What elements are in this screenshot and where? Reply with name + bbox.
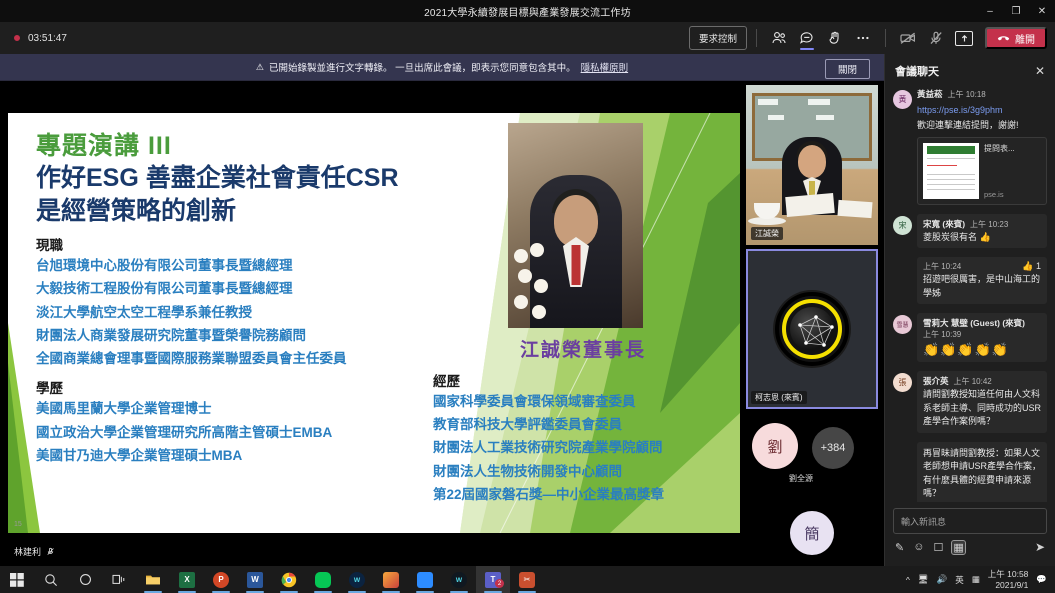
chat-bubble: 👍 1 上午 10:24 招遊吧很厲害，是中山海工的學姊 xyxy=(917,257,1047,304)
chat-author: 黃益菘 xyxy=(917,88,943,100)
chat-timestamp: 上午 10:18 xyxy=(948,89,986,100)
toolbar-actions: 要求控制 xyxy=(689,25,1047,51)
avatar[interactable]: 簡 xyxy=(790,511,834,555)
line-icon[interactable] xyxy=(306,566,340,593)
close-icon[interactable]: ✕ xyxy=(1035,64,1045,78)
chat-message-body: 雪莉大 慧璧 (Guest) (來賓) 上午 10:39 👏👏👏👏👏 xyxy=(917,313,1047,362)
window-title: 2021大學永續發展目標與產業發展交流工作坊 xyxy=(424,4,631,19)
chat-message: 張 張介英 上午 10:42 請問劉教授知道任何由人文科系老師主導、同時成功的U… xyxy=(893,371,1047,433)
slide-page-number: 15 xyxy=(14,521,22,528)
request-control-button[interactable]: 要求控制 xyxy=(689,26,747,50)
chat-timestamp: 上午 10:42 xyxy=(954,376,992,387)
snipping-tool-icon[interactable]: ✂ xyxy=(510,566,544,593)
presentation-slide: 專題演講 III 作好ESG 善盡企業社會責任CSR 是經營策略的創新 現職 台… xyxy=(8,113,740,533)
chat-author: 宋寬 (來賓) xyxy=(923,218,965,230)
webex-icon[interactable]: w xyxy=(340,566,374,593)
list-item: 第22屆國家磐石獎—中小企業最高獎章 xyxy=(433,483,733,506)
link-preview-title: 提問表... xyxy=(984,143,1041,154)
meeting-stage: 專題演講 III 作好ESG 善盡企業社會責任CSR 是經營策略的創新 現職 台… xyxy=(0,81,884,566)
list-item: 台旭環境中心股份有限公司董事長暨總經理 xyxy=(36,254,506,277)
speaker-photo xyxy=(508,123,643,328)
chat-bubble: 宋寬 (來賓) 上午 10:23 菱股炭很有名 👍 xyxy=(917,214,1047,249)
video-tile-guest[interactable]: 柯志恩 (來賓) xyxy=(746,249,878,409)
send-icon[interactable]: ➤ xyxy=(1035,540,1045,554)
avatar-label: 劉全源 xyxy=(746,473,856,484)
list-item: 財團法人生物技術開發中心顧問 xyxy=(433,460,733,483)
avatar[interactable]: 黃 xyxy=(893,90,912,109)
webex-meetings-icon[interactable]: w xyxy=(442,566,476,593)
chat-message-meta: 宋寬 (來賓) 上午 10:23 xyxy=(923,218,1041,230)
chrome-icon[interactable] xyxy=(272,566,306,593)
list-item: 教育部科技大學評鑑委員會委員 xyxy=(433,413,733,436)
ime-label[interactable]: 英 xyxy=(955,574,964,586)
clock[interactable]: 上午 10:58 2021/9/1 xyxy=(988,569,1029,590)
link-preview-meta: 提問表... pse.is xyxy=(984,143,1041,199)
maximize-icon[interactable]: ❐ xyxy=(1003,0,1029,22)
video-rail: 江誠榮 xyxy=(740,81,884,566)
powerpoint-icon[interactable]: P xyxy=(204,566,238,593)
chat-icon[interactable] xyxy=(794,25,820,51)
chat-text: 歡迎連擊連結提問，謝謝! xyxy=(917,119,1047,133)
camera-off-icon[interactable] xyxy=(895,25,921,51)
avatar[interactable]: 宋 xyxy=(893,216,912,235)
chat-title: 會議聊天 xyxy=(895,63,939,79)
emoji-icon[interactable]: ☺ xyxy=(913,541,924,553)
organization-logo-icon xyxy=(775,292,849,366)
chat-message-meta: 黃益菘 上午 10:18 xyxy=(917,88,1047,100)
chat-author: 張介英 xyxy=(923,375,949,387)
chat-message: 再冒昧請問劉教授：如果人文老師想申請USR產學合作案，有什麼具體的經費申請來源嗎… xyxy=(893,442,1047,503)
link-preview-card[interactable]: 提問表... pse.is xyxy=(917,137,1047,205)
sticker-icon[interactable]: ▦ xyxy=(952,541,964,554)
avatar[interactable]: 張 xyxy=(893,373,912,392)
meeting-toolbar: 03:51:47 要求控制 xyxy=(0,22,1055,54)
slide-eyebrow: 專題演講 III xyxy=(36,131,506,162)
search-icon[interactable] xyxy=(34,566,68,593)
mic-off-icon xyxy=(46,547,55,556)
chat-author: 雪莉大 慧璧 (Guest) (來賓) xyxy=(923,317,1041,329)
silhouette-head xyxy=(798,145,826,178)
chat-message: 雪慧 雪莉大 慧璧 (Guest) (來賓) 上午 10:39 👏👏👏👏👏 xyxy=(893,313,1047,362)
close-icon[interactable]: ✕ xyxy=(1029,0,1055,22)
banner-dismiss-button[interactable]: 關閉 xyxy=(825,59,870,79)
warning-icon: ⚠ xyxy=(256,62,264,73)
recording-indicator: 03:51:47 xyxy=(12,33,67,44)
overflow-participants: 劉 +384 劉全源 xyxy=(746,417,878,509)
chat-text: 再冒昧請問劉教授：如果人文老師想申請USR產學合作案，有什麼具體的經費申請來源嗎… xyxy=(923,447,1041,501)
more-options-icon[interactable] xyxy=(850,25,876,51)
file-explorer-icon[interactable] xyxy=(136,566,170,593)
windows-taskbar: X P W w w T 2 ✂ ^ 🖥 🔊 英 ▦ 上午 10:58 202 xyxy=(0,566,1055,593)
chat-message: 黃 黃益菘 上午 10:18 https://pse.is/3g9phm 歡迎連… xyxy=(893,88,1047,205)
task-view-icon[interactable] xyxy=(102,566,136,593)
leave-label: 離開 xyxy=(1015,31,1035,46)
notification-badge: 2 xyxy=(495,579,504,588)
chat-message-list[interactable]: 黃 黃益菘 上午 10:18 https://pse.is/3g9phm 歡迎連… xyxy=(885,88,1055,502)
show-hidden-icons-icon[interactable]: ^ xyxy=(906,575,910,585)
photos-icon[interactable] xyxy=(374,566,408,593)
volume-icon[interactable]: 🔊 xyxy=(937,574,948,585)
teams-icon[interactable]: T 2 xyxy=(476,566,510,593)
paper-prop-2 xyxy=(837,200,872,218)
toolbar-divider xyxy=(756,29,757,47)
video-tile-label: 柯志恩 (來賓) xyxy=(751,391,807,404)
list-item: 大毅技術工程股份有限公司董事長暨總經理 xyxy=(36,277,506,300)
slide-title-line1: 作好ESG 善盡企業社會責任CSR xyxy=(36,162,506,195)
chat-link[interactable]: https://pse.is/3g9phm xyxy=(917,105,1003,115)
leave-meeting-button[interactable]: 離開 xyxy=(985,27,1047,49)
cortana-icon[interactable] xyxy=(68,566,102,593)
paper-prop xyxy=(785,193,835,217)
banner-message: ⚠ 已開始錄製並進行文字轉錄。 一旦出席此會議，即表示您同意包含其中。 隱私權原… xyxy=(256,60,628,74)
experience-heading: 經歷 xyxy=(433,370,733,390)
chat-text: 招遊吧很厲害，是中山海工的學姊 xyxy=(923,273,1041,300)
chat-bubble: 張介英 上午 10:42 請問劉教授知道任何由人文科系老師主導、同時成功的USR… xyxy=(917,371,1047,433)
list-item: 財團法人工業技術研究院產業學院顧問 xyxy=(433,436,733,459)
chat-timestamp: 上午 10:39 xyxy=(923,329,1041,340)
logo-network-graphic xyxy=(790,307,834,351)
avatar[interactable]: 劉 xyxy=(752,423,798,469)
presenter-name: 林建利 xyxy=(14,545,41,558)
current-position-heading: 現職 xyxy=(36,234,506,254)
banner-text: 已開始錄製並進行文字轉錄。 一旦出席此會議，即表示您同意包含其中。 xyxy=(269,60,576,74)
chat-timestamp: 上午 10:23 xyxy=(970,219,1008,230)
minimize-icon[interactable]: – xyxy=(977,0,1003,22)
slide-title-line2: 是經營策略的創新 xyxy=(36,195,506,228)
giphy-icon[interactable]: ☐ xyxy=(933,541,943,554)
slide-right-column: 江誠榮董事長 經歷 國家科學委員會環保領域審查委員 教育部科技大學評鑑委員會委員… xyxy=(433,335,733,506)
zoom-icon[interactable] xyxy=(408,566,442,593)
mic-off-icon[interactable] xyxy=(923,25,949,51)
avatar-placeholder xyxy=(893,444,912,463)
windows-start-icon[interactable] xyxy=(0,566,34,593)
shared-content-area[interactable]: 專題演講 III 作好ESG 善盡企業社會責任CSR 是經營策略的創新 現職 台… xyxy=(0,81,740,566)
action-center-icon[interactable]: 💬 xyxy=(1036,574,1047,585)
chat-bubble: 雪莉大 慧璧 (Guest) (來賓) 上午 10:39 👏👏👏👏👏 xyxy=(917,313,1047,362)
overflow-count-badge[interactable]: +384 xyxy=(812,427,854,469)
chat-header: 會議聊天 ✕ xyxy=(885,54,1055,88)
ime-tool-icon[interactable]: ▦ xyxy=(972,574,980,585)
chat-message-body: 再冒昧請問劉教授：如果人文老師想申請USR產學合作案，有什麼具體的經費申請來源嗎… xyxy=(917,442,1047,503)
window-titlebar: 2021大學永續發展目標與產業發展交流工作坊 – ❐ ✕ xyxy=(0,0,1055,22)
meeting-timer: 03:51:47 xyxy=(28,33,67,44)
teams-meeting-window: 2021大學永續發展目標與產業發展交流工作坊 – ❐ ✕ 03:51:47 要求… xyxy=(0,0,1055,593)
window-controls: – ❐ ✕ xyxy=(977,0,1055,22)
chat-message-body: 宋寬 (來賓) 上午 10:23 菱股炭很有名 👍 xyxy=(917,214,1047,249)
toolbar-divider-2 xyxy=(885,29,886,47)
chat-text: 菱股炭很有名 👍 xyxy=(923,231,1041,245)
bottom-avatar-row: 簡 xyxy=(740,511,884,555)
video-tile-label: 江誠榮 xyxy=(751,227,783,240)
chat-text: 請問劉教授知道任何由人文科系老師主導、同時成功的USR產學合作案例嗎？ xyxy=(923,388,1041,429)
chat-message: 👍 1 上午 10:24 招遊吧很厲害，是中山海工的學姊 xyxy=(893,257,1047,304)
chat-bubble: 再冒昧請問劉教授：如果人文老師想申請USR產學合作案，有什麼具體的經費申請來源嗎… xyxy=(917,442,1047,503)
system-tray: ^ 🖥 🔊 英 ▦ 上午 10:58 2021/9/1 💬 xyxy=(906,569,1055,590)
recording-dot-icon xyxy=(12,33,22,43)
network-icon[interactable]: 🖥 xyxy=(918,574,929,585)
raise-hand-icon[interactable] xyxy=(822,25,848,51)
list-item: 淡江大學航空太空工程學系兼任教授 xyxy=(36,301,506,324)
clock-time: 上午 10:58 xyxy=(988,569,1029,580)
list-item: 國家科學委員會環保領域審查委員 xyxy=(433,390,733,413)
share-screen-icon[interactable] xyxy=(951,25,977,51)
chat-message-meta: 張介英 上午 10:42 xyxy=(923,375,1041,387)
chat-message-body: 👍 1 上午 10:24 招遊吧很厲害，是中山海工的學姊 xyxy=(917,257,1047,304)
photo-flowers xyxy=(512,243,554,323)
share-presenter-label: 林建利 xyxy=(8,543,61,560)
chat-emoji: 👏👏👏👏👏 xyxy=(923,342,1041,358)
avatar-placeholder xyxy=(893,259,912,278)
excel-icon[interactable]: X xyxy=(170,566,204,593)
compose-toolbar: ✎ ☺ ☐ ▦ ➤ xyxy=(893,540,1047,554)
chat-message-body: 張介英 上午 10:42 請問劉教授知道任何由人文科系老師主導、同時成功的USR… xyxy=(917,371,1047,433)
video-tile-speaker[interactable]: 江誠榮 xyxy=(746,85,878,245)
word-icon[interactable]: W xyxy=(238,566,272,593)
chat-input[interactable]: 輸入新訊息 xyxy=(893,508,1047,534)
chat-message-body: 黃益菘 上午 10:18 https://pse.is/3g9phm 歡迎連擊連… xyxy=(917,88,1047,205)
format-icon[interactable]: ✎ xyxy=(895,541,904,554)
chat-message: 宋 宋寬 (來賓) 上午 10:23 菱股炭很有名 👍 xyxy=(893,214,1047,249)
message-reaction[interactable]: 👍 1 xyxy=(1022,261,1041,272)
photo-tie xyxy=(572,245,581,285)
chat-panel: 會議聊天 ✕ 黃 黃益菘 上午 10:18 https://pse.is/3g9… xyxy=(884,54,1055,566)
clock-date: 2021/9/1 xyxy=(988,580,1029,591)
people-icon[interactable] xyxy=(766,25,792,51)
avatar[interactable]: 雪慧 xyxy=(893,315,912,334)
speaker-name: 江誠榮董事長 xyxy=(433,335,733,362)
recording-banner: ⚠ 已開始錄製並進行文字轉錄。 一旦出席此會議，即表示您同意包含其中。 隱私權原… xyxy=(0,54,884,81)
hangup-icon xyxy=(997,32,1010,45)
privacy-policy-link[interactable]: 隱私權原則 xyxy=(581,60,629,74)
link-preview-host: pse.is xyxy=(984,190,1041,199)
link-preview-thumbnail xyxy=(923,143,979,199)
chat-compose-area: 輸入新訊息 ✎ ☺ ☐ ▦ ➤ xyxy=(885,502,1055,566)
